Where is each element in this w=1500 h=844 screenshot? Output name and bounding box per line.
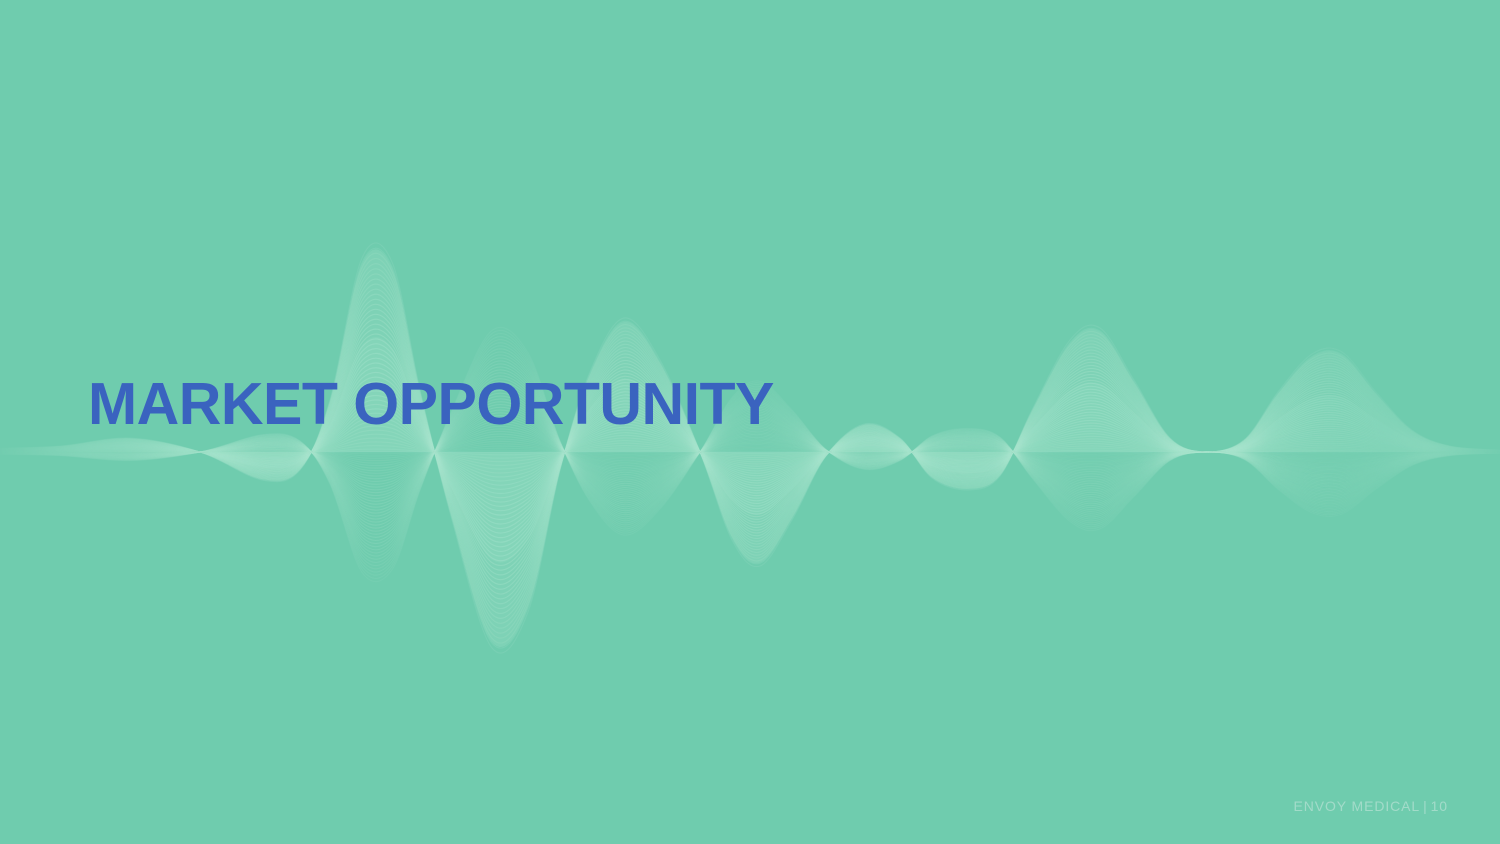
footer-separator: |	[1420, 798, 1431, 814]
slide-canvas: MARKET OPPORTUNITY ENVOY MEDICAL|10	[0, 0, 1500, 844]
footer-page-number: 10	[1431, 798, 1448, 814]
page-title: MARKET OPPORTUNITY	[88, 374, 774, 436]
slide-footer: ENVOY MEDICAL|10	[1293, 798, 1448, 814]
footer-brand: ENVOY MEDICAL	[1293, 798, 1420, 814]
